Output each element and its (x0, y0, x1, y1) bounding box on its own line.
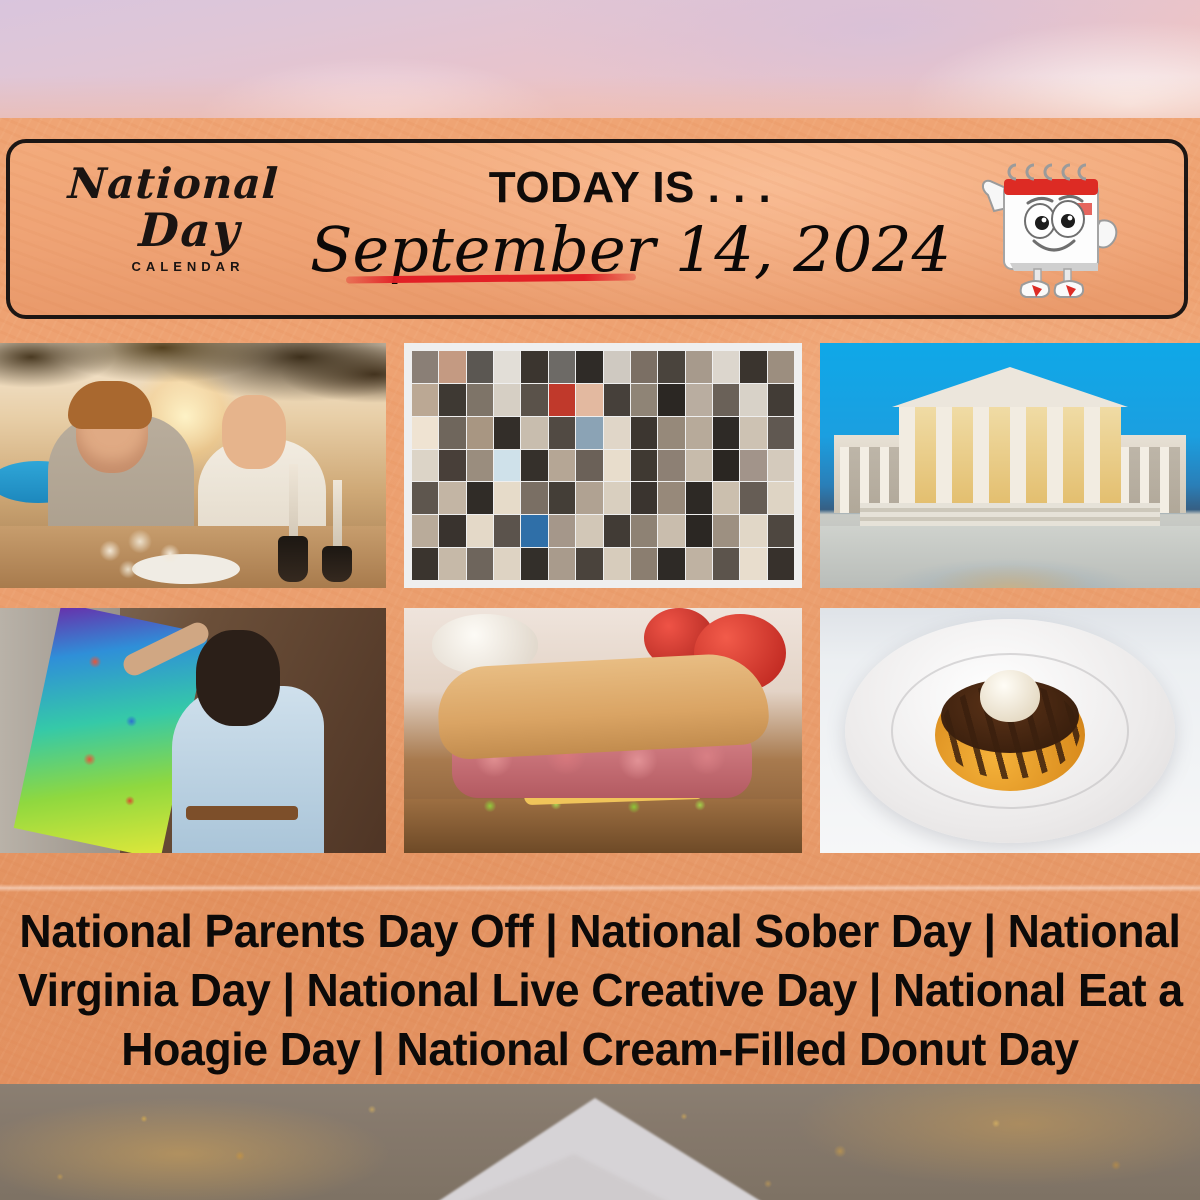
holiday-list: National Parents Day Off | National Sobe… (18, 902, 1182, 1079)
photo-live-creative-day[interactable]: Woman hanging a colorful abstract painti… (0, 608, 386, 853)
sky-background (0, 0, 1200, 122)
logo-line-calendar: CALENDAR (98, 259, 278, 274)
calendar-mascot-icon (980, 159, 1130, 305)
logo-line-national: National (67, 163, 279, 205)
photo-cream-filled-donut-day[interactable]: Cream-filled donut with chocolate drizzl… (820, 608, 1200, 853)
today-is-poster: National Day CALENDAR TODAY IS . . . Sep… (0, 0, 1200, 1200)
holiday-line-3: Hoagie Day | National Cream-Filled Donut… (18, 1020, 1182, 1079)
artist-painting-illustration (0, 608, 386, 853)
logo-line-day: Day (101, 207, 279, 253)
photo-eat-a-hoagie-day[interactable]: Deli hoagie sub sandwich on a wooden boa… (404, 608, 802, 853)
hoagie-sandwich-illustration (404, 608, 802, 853)
couple-dinner-illustration (0, 343, 386, 588)
headline-block: TODAY IS . . . September 14, 2024 (310, 165, 950, 284)
capitol-building-illustration (820, 343, 1200, 588)
holiday-line-2: Virginia Day | National Live Creative Da… (18, 961, 1182, 1020)
photo-grid: Couple having an outdoor candlelit sunse… (0, 343, 1200, 853)
today-is-label: TODAY IS . . . (310, 165, 950, 211)
mountain-background (0, 1084, 1200, 1200)
photo-sober-day[interactable]: Mosaic collage of many portrait photos o… (404, 343, 802, 588)
background-seam (0, 884, 1200, 892)
photo-parents-day-off[interactable]: Couple having an outdoor candlelit sunse… (0, 343, 386, 588)
header-banner: National Day CALENDAR TODAY IS . . . Sep… (6, 139, 1188, 319)
face-mosaic-illustration (404, 343, 802, 588)
holiday-line-1: National Parents Day Off | National Sobe… (18, 902, 1182, 961)
cream-filled-donut-illustration (820, 608, 1200, 853)
photo-virginia-day[interactable]: Virginia State Capitol building illumina… (820, 343, 1200, 588)
date-wrapper: September 14, 2024 (310, 217, 951, 284)
national-day-calendar-logo[interactable]: National Day CALENDAR (68, 163, 278, 274)
mountain-peak-secondary (444, 1154, 684, 1200)
